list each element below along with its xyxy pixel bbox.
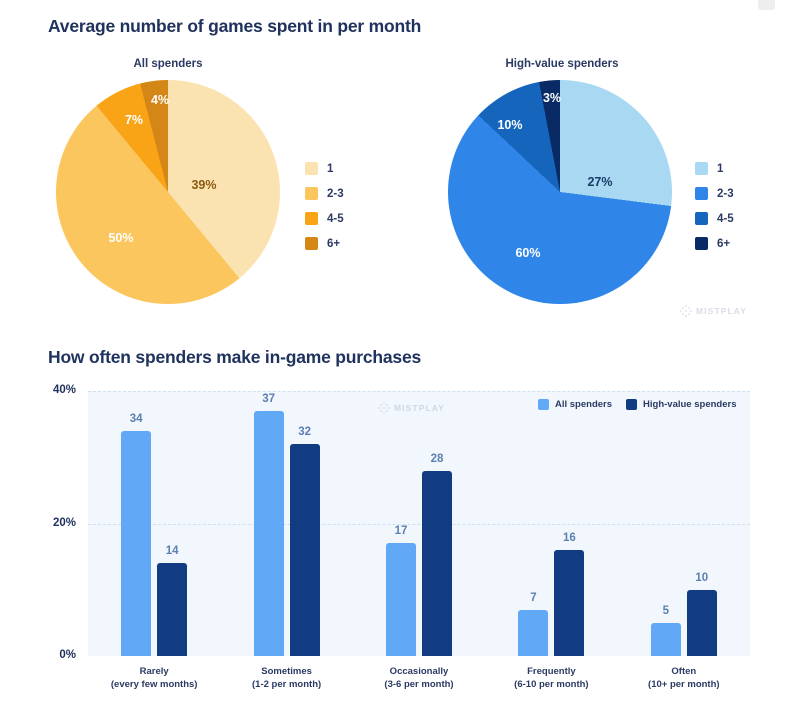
bar-all-spenders-3[interactable] bbox=[386, 543, 416, 656]
pie-slice-label: 39% bbox=[191, 178, 216, 192]
legend-swatch-icon bbox=[305, 212, 318, 225]
bar-high-value-spenders-4[interactable] bbox=[554, 550, 584, 656]
pie-subtitle-all-spenders: All spenders bbox=[68, 58, 268, 70]
x-axis-category-detail: (10+ per month) bbox=[648, 679, 720, 692]
pie-slice-label: 3% bbox=[543, 91, 561, 105]
bar-value-label: 14 bbox=[166, 545, 179, 557]
y-axis-tick: 20% bbox=[42, 517, 76, 529]
y-axis-tick: 40% bbox=[42, 384, 76, 396]
pie-legend-all-item-4-5[interactable]: 4-5 bbox=[305, 206, 344, 231]
pie-legend-hv-item-4-5[interactable]: 4-5 bbox=[695, 206, 734, 231]
mistplay-watermark-label: MISTPLAY bbox=[394, 403, 445, 413]
pie-chart-all-spenders: 39%50%7%4% bbox=[56, 80, 280, 304]
legend-swatch-icon bbox=[695, 187, 708, 200]
bar-all-spenders-4[interactable] bbox=[518, 610, 548, 656]
x-axis-category-name: Rarely bbox=[111, 666, 198, 679]
bar-value-label: 28 bbox=[431, 453, 444, 465]
bar-value-label: 32 bbox=[298, 426, 311, 438]
legend-swatch-icon bbox=[695, 212, 708, 225]
legend-label: 6+ bbox=[327, 238, 340, 250]
pie-legend-hv-item-2-3[interactable]: 2-3 bbox=[695, 181, 734, 206]
x-axis-category-name: Occasionally bbox=[384, 666, 453, 679]
legend-label: High-value spenders bbox=[643, 399, 736, 410]
legend-swatch-icon bbox=[305, 237, 318, 250]
bar-value-label: 10 bbox=[695, 572, 708, 584]
x-axis-category-label: Occasionally(3-6 per month) bbox=[384, 666, 453, 692]
bar-high-value-spenders-1[interactable] bbox=[157, 563, 187, 656]
legend-swatch-icon bbox=[305, 187, 318, 200]
x-axis-category-detail: (6-10 per month) bbox=[514, 679, 588, 692]
legend-label: 4-5 bbox=[327, 213, 344, 225]
x-axis-category-label: Frequently(6-10 per month) bbox=[514, 666, 588, 692]
legend-swatch-icon bbox=[538, 399, 549, 410]
mistplay-watermark-bars: MISTPLAY bbox=[378, 402, 445, 414]
pie-slice-label: 50% bbox=[108, 231, 133, 245]
legend-label: 4-5 bbox=[717, 213, 734, 225]
bar-high-value-spenders-5[interactable] bbox=[687, 590, 717, 656]
bar-high-value-spenders-2[interactable] bbox=[290, 444, 320, 656]
bar-chart-legend: All spendersHigh-value spenders bbox=[538, 399, 750, 410]
x-axis-category-label: Often(10+ per month) bbox=[648, 666, 720, 692]
x-axis-category-label: Rarely(every few months) bbox=[111, 666, 198, 692]
pie-slice-label: 10% bbox=[497, 118, 522, 132]
x-axis-category-detail: (every few months) bbox=[111, 679, 198, 692]
pie-legend-all-item-6plus[interactable]: 6+ bbox=[305, 231, 344, 256]
legend-label: All spenders bbox=[555, 399, 612, 410]
mistplay-watermark-pies: MISTPLAY bbox=[680, 305, 747, 317]
legend-swatch-icon bbox=[626, 399, 637, 410]
infographic-page: Average number of games spent in per mon… bbox=[0, 0, 786, 705]
pie-legend-high-value-spenders: 12-34-56+ bbox=[695, 156, 734, 256]
pie-slice-label: 27% bbox=[587, 175, 612, 189]
bar-chart-plot-area: 341437321728716510 bbox=[88, 391, 750, 656]
legend-label: 6+ bbox=[717, 238, 730, 250]
pie-legend-hv-item-1[interactable]: 1 bbox=[695, 156, 734, 181]
x-axis-category-label: Sometimes(1-2 per month) bbox=[252, 666, 321, 692]
bar-value-label: 34 bbox=[130, 413, 143, 425]
x-axis-category-name: Frequently bbox=[514, 666, 588, 679]
pie-legend-all-item-1[interactable]: 1 bbox=[305, 156, 344, 181]
x-axis-category-detail: (1-2 per month) bbox=[252, 679, 321, 692]
mistplay-watermark-label: MISTPLAY bbox=[696, 306, 747, 316]
mistplay-dots-icon bbox=[378, 402, 390, 414]
pie-legend-all-item-2-3[interactable]: 2-3 bbox=[305, 181, 344, 206]
pie-legend-all-spenders: 12-34-56+ bbox=[305, 156, 344, 256]
legend-swatch-icon bbox=[695, 162, 708, 175]
page-title-purchase-frequency: How often spenders make in-game purchase… bbox=[48, 347, 421, 368]
bar-value-label: 5 bbox=[663, 605, 669, 617]
x-axis-category-detail: (3-6 per month) bbox=[384, 679, 453, 692]
mistplay-dots-icon bbox=[680, 305, 692, 317]
bar-value-label: 37 bbox=[262, 393, 275, 405]
bar-value-label: 16 bbox=[563, 532, 576, 544]
legend-label: 1 bbox=[327, 163, 333, 175]
legend-swatch-icon bbox=[695, 237, 708, 250]
bar-value-label: 17 bbox=[395, 525, 408, 537]
corner-placeholder bbox=[758, 0, 775, 10]
pie-slice-label: 4% bbox=[151, 93, 169, 107]
gridline bbox=[88, 524, 750, 525]
x-axis-category-name: Often bbox=[648, 666, 720, 679]
legend-label: 2-3 bbox=[327, 188, 344, 200]
bar-high-value-spenders-3[interactable] bbox=[422, 471, 452, 657]
y-axis-tick: 0% bbox=[42, 649, 76, 661]
bar-value-label: 7 bbox=[530, 592, 536, 604]
legend-label: 1 bbox=[717, 163, 723, 175]
pie-slice-label: 60% bbox=[515, 246, 540, 260]
pie-chart-high-value-spenders: 27%60%10%3% bbox=[448, 80, 672, 304]
pie-subtitle-high-value-spenders: High-value spenders bbox=[462, 58, 662, 70]
pie-slice-label: 7% bbox=[125, 113, 143, 127]
legend-label: 2-3 bbox=[717, 188, 734, 200]
bar-all-spenders-1[interactable] bbox=[121, 431, 151, 656]
bar-legend-item-high-value-spenders[interactable]: High-value spenders bbox=[626, 399, 736, 410]
gridline bbox=[88, 391, 750, 392]
bar-all-spenders-5[interactable] bbox=[651, 623, 681, 656]
pie-legend-hv-item-6plus[interactable]: 6+ bbox=[695, 231, 734, 256]
page-title-games-per-month: Average number of games spent in per mon… bbox=[48, 16, 421, 37]
x-axis-category-name: Sometimes bbox=[252, 666, 321, 679]
legend-swatch-icon bbox=[305, 162, 318, 175]
bar-legend-item-all-spenders[interactable]: All spenders bbox=[538, 399, 612, 410]
bar-all-spenders-2[interactable] bbox=[254, 411, 284, 656]
